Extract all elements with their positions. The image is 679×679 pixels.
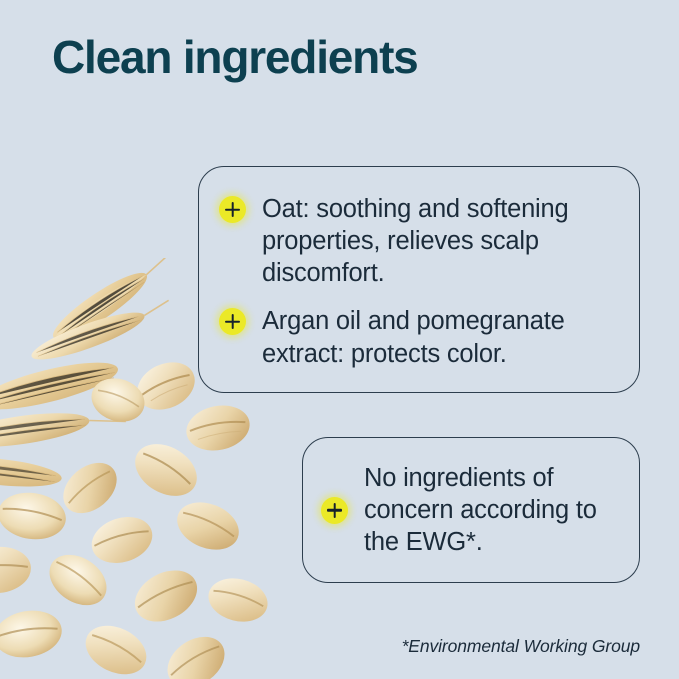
- card-ingredients: Oat: soothing and softening properties, …: [198, 166, 640, 393]
- page-title: Clean ingredients: [52, 33, 418, 81]
- bullet-text: Argan oil and pomegranate extract: prote…: [262, 305, 615, 369]
- footnote: *Environmental Working Group: [240, 636, 640, 657]
- plus-icon: [219, 196, 246, 223]
- plus-icon: [219, 308, 246, 335]
- bullet-item-oat: Oat: soothing and softening properties, …: [219, 193, 615, 289]
- bullet-item-argan-oil: Argan oil and pomegranate extract: prote…: [219, 305, 615, 369]
- bullet-text: No ingredients of concern according to t…: [364, 462, 623, 558]
- plus-icon: [321, 497, 348, 524]
- card-ewg: No ingredients of concern according to t…: [302, 437, 640, 583]
- bullet-item-ewg: No ingredients of concern according to t…: [321, 462, 623, 558]
- bullet-text: Oat: soothing and softening properties, …: [262, 193, 615, 289]
- infographic-canvas: Clean ingredients: [0, 0, 679, 679]
